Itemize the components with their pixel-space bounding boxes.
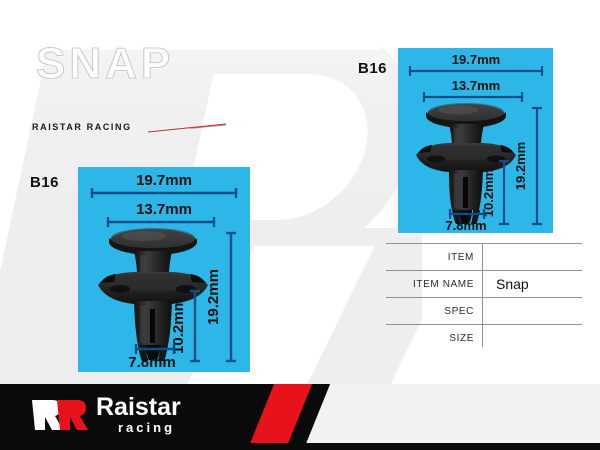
- dim-line-right-outer-right: [532, 108, 542, 224]
- dim-bottom-right: 7.8mm: [445, 218, 486, 233]
- spec-row-divider: [482, 244, 483, 270]
- panel-label-left: B16: [30, 174, 59, 191]
- dim-line-top-inner-right: [424, 92, 522, 102]
- footer-logo-secondary: racing: [118, 420, 181, 435]
- dim-line-top-outer-left: [92, 188, 236, 198]
- product-spec-image: SNAP RAISTAR RACING B16: [0, 0, 600, 450]
- spec-key-item: ITEM: [386, 252, 482, 263]
- spec-row-divider: [482, 325, 483, 347]
- dim-bottom-left: 7.8mm: [128, 354, 176, 371]
- dim-top-inner-right: 13.7mm: [452, 78, 500, 93]
- spec-key-item-name: ITEM NAME: [386, 279, 482, 290]
- dim-line-top-outer-right: [410, 66, 542, 76]
- dim-top-outer-right: 19.7mm: [452, 52, 500, 67]
- dim-top-inner-left: 13.7mm: [136, 201, 192, 218]
- spec-row-divider: [482, 271, 483, 297]
- brand-tagline: RAISTAR RACING: [32, 122, 132, 132]
- panel-label-right: B16: [358, 60, 387, 77]
- snap-fastener-graphic-right: [416, 103, 516, 224]
- footer-logo-primary: Raistar: [96, 395, 181, 420]
- clip-diagram-right: 19.7mm 13.7mm: [398, 48, 553, 233]
- dim-right-outer-right: 19.2mm: [513, 142, 528, 190]
- dim-line-top-inner-left: [108, 217, 214, 227]
- table-row: SPEC: [386, 297, 582, 324]
- spec-row-divider: [482, 298, 483, 324]
- dim-right-inner-left: 10.2mm: [170, 298, 187, 354]
- footer-bar: Raistar racing: [0, 378, 600, 450]
- dim-top-outer-left: 19.7mm: [136, 172, 192, 189]
- table-row: ITEM: [386, 243, 582, 270]
- footer-logo-text: Raistar racing: [96, 395, 181, 435]
- snap-wordmark: SNAP: [36, 39, 174, 89]
- spec-key-size: SIZE: [386, 333, 482, 344]
- footer-bottom-strip: [0, 443, 600, 450]
- dim-line-right-inner-right: [499, 161, 509, 224]
- snap-fastener-graphic-left: [98, 228, 208, 361]
- dim-line-right-outer-left: [226, 233, 236, 361]
- product-panel-left: 19.7mm 13.7mm: [78, 167, 250, 372]
- spec-table: ITEM ITEM NAME Snap SPEC SIZE: [386, 243, 582, 351]
- table-row: ITEM NAME Snap: [386, 270, 582, 297]
- red-accent-rule: [148, 120, 226, 130]
- dim-right-outer-left: 19.2mm: [205, 269, 222, 325]
- product-panel-right: 19.7mm 13.7mm: [398, 48, 553, 233]
- spec-key-spec: SPEC: [386, 306, 482, 317]
- dim-line-right-inner-left: [190, 291, 200, 361]
- footer-white-wedge: [306, 384, 600, 444]
- table-row: SIZE: [386, 324, 582, 351]
- clip-diagram-left: 19.7mm 13.7mm: [78, 167, 250, 372]
- spec-value-item-name: Snap: [482, 276, 582, 292]
- raistar-double-r-logo-icon: [30, 398, 88, 435]
